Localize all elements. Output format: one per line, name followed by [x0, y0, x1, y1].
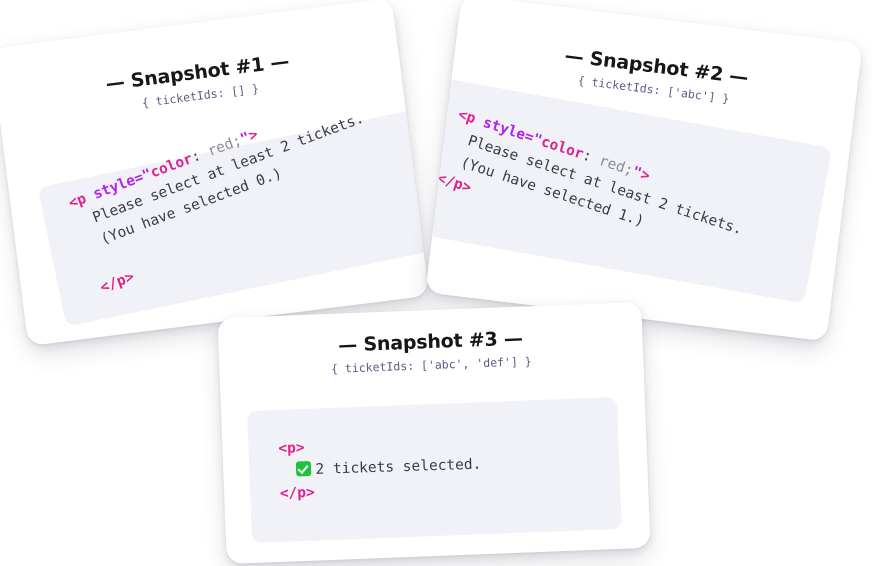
message-line: 2 tickets selected. [315, 457, 481, 478]
indent [79, 223, 95, 229]
indent [87, 244, 103, 250]
snapshot-card-stage: — Snapshot #1 — { ticketIds: [] } <p sty… [0, 0, 872, 566]
card-1-code-block: <p style="color: red;"> Please select at… [38, 107, 430, 327]
card-1-code-text: <p style="color: red;"> Please select at… [66, 87, 392, 299]
card-2-code-text: <p style="color: red;"> Please select at… [434, 104, 752, 285]
snapshot-card-3: — Snapshot #3 — { ticketIds: ['abc', 'de… [217, 302, 650, 564]
indent [450, 139, 467, 144]
white-heavy-check-mark-icon [296, 461, 311, 476]
open-tag: <p> [278, 440, 305, 457]
card-3-code-text: <p> 2 tickets selected. </p> [278, 432, 482, 506]
indent [443, 161, 460, 166]
snapshot-card-2: — Snapshot #2 — { ticketIds: ['abc'] } <… [425, 0, 863, 341]
closing-tag: </p> [280, 485, 315, 502]
snapshot-card-1: — Snapshot #1 — { ticketIds: [] } <p sty… [0, 0, 429, 346]
indent [279, 475, 296, 476]
card-3-code-block: <p> 2 tickets selected. </p> [247, 397, 622, 543]
